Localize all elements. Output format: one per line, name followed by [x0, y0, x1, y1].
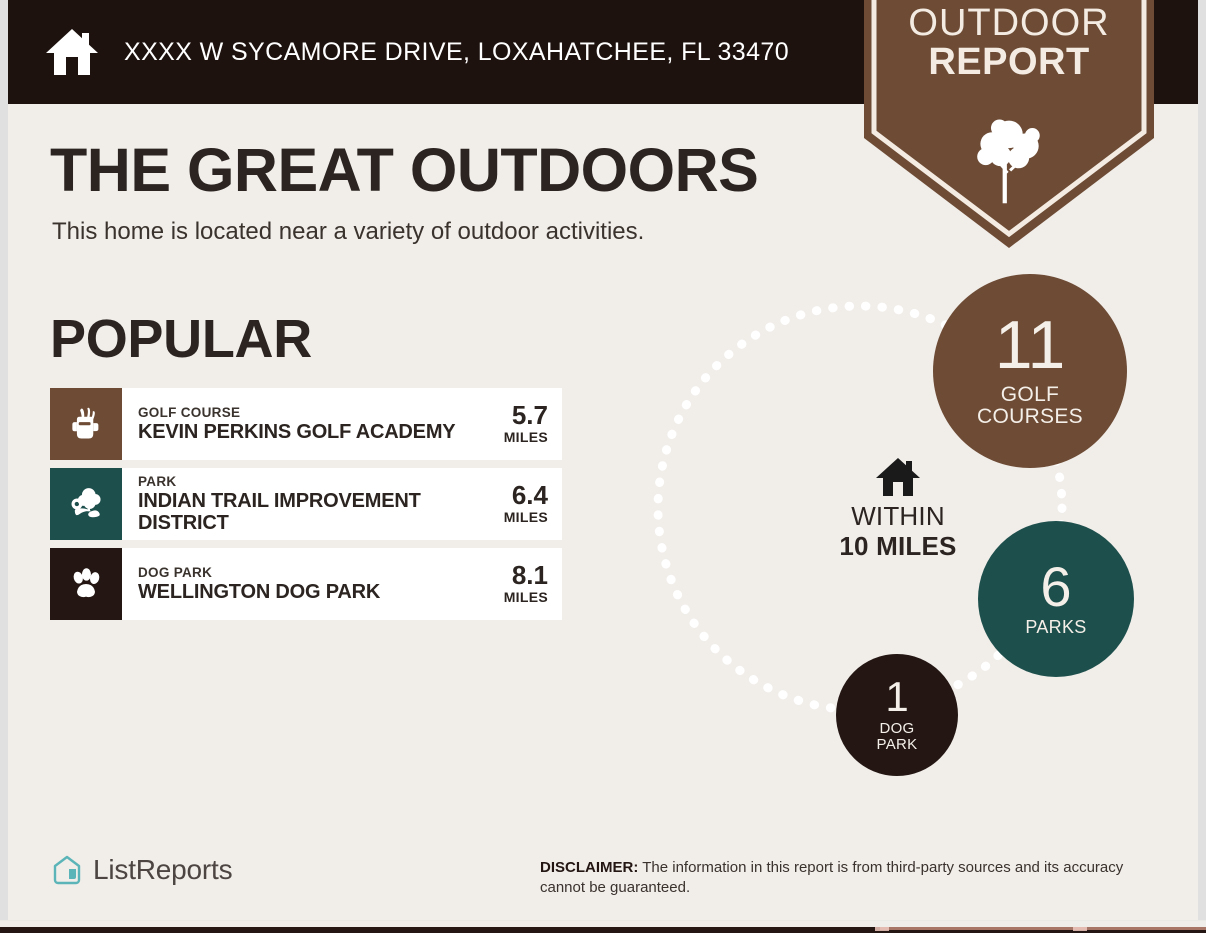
park-tree-icon	[50, 468, 122, 540]
bottom-bar-tint	[880, 927, 1206, 930]
list-item-category: DOG PARK	[138, 565, 494, 582]
bubble-value: 6	[1040, 560, 1071, 613]
list-item-name: KEVIN PERKINS GOLF ACADEMY	[138, 421, 494, 443]
listreports-logo[interactable]: ListReports	[52, 854, 232, 886]
bubble-label-line-1: GOLF	[1001, 383, 1059, 406]
disclaimer: DISCLAIMER: The information in this repo…	[540, 858, 1170, 898]
page-frame-right	[1198, 0, 1206, 920]
distance-value: 8.1	[504, 562, 548, 588]
list-item-category: PARK	[138, 474, 494, 491]
page-frame-left	[0, 0, 8, 920]
page-bottom-bar	[0, 927, 1206, 933]
list-item-name: INDIAN TRAIL IMPROVEMENT DISTRICT	[138, 490, 494, 534]
disclaimer-label: DISCLAIMER:	[540, 859, 638, 876]
popular-list: GOLF COURSE KEVIN PERKINS GOLF ACADEMY 5…	[50, 388, 562, 628]
page-subtitle: This home is located near a variety of o…	[52, 218, 644, 246]
distance-unit: MILES	[504, 588, 548, 606]
home-icon	[875, 456, 921, 498]
page-title: THE GREAT OUTDOORS	[50, 140, 758, 201]
bubble-dog-park[interactable]: 1 DOG PARK	[836, 654, 958, 776]
list-item-name: WELLINGTON DOG PARK	[138, 581, 494, 603]
bubble-value: 1	[885, 677, 908, 717]
listreports-wordmark: ListReports	[93, 854, 232, 886]
diagram-center-label: WITHIN 10 MILES	[828, 456, 968, 562]
list-item-category: GOLF COURSE	[138, 405, 494, 422]
list-item[interactable]: PARK INDIAN TRAIL IMPROVEMENT DISTRICT 6…	[50, 468, 562, 540]
golf-bag-icon	[50, 388, 122, 460]
bottom-bar-marker	[875, 927, 889, 931]
report-canvas: XXXX W SYCAMORE DRIVE, LOXAHATCHEE, FL 3…	[8, 0, 1198, 920]
bubble-value: 11	[995, 313, 1066, 378]
popular-heading: POPULAR	[50, 312, 312, 366]
bubble-label-line-1: DOG	[879, 720, 914, 737]
bubble-label-line-2: PARK	[877, 736, 918, 753]
property-address: XXXX W SYCAMORE DRIVE, LOXAHATCHEE, FL 3…	[124, 38, 789, 67]
list-item-body: PARK INDIAN TRAIL IMPROVEMENT DISTRICT 6…	[122, 468, 562, 540]
bubble-label-line-2: COURSES	[977, 405, 1083, 428]
paw-print-icon	[50, 548, 122, 620]
bubble-parks[interactable]: 6 PARKS	[978, 521, 1134, 677]
bubble-golf-courses[interactable]: 11 GOLF COURSES	[933, 274, 1127, 468]
outdoor-report-page: XXXX W SYCAMORE DRIVE, LOXAHATCHEE, FL 3…	[0, 0, 1206, 933]
center-line-2: 10 MILES	[828, 532, 968, 562]
distance-value: 6.4	[504, 482, 548, 508]
list-item-body: DOG PARK WELLINGTON DOG PARK 8.1 MILES	[122, 548, 562, 620]
bottom-bar-marker	[1073, 927, 1087, 931]
list-item-body: GOLF COURSE KEVIN PERKINS GOLF ACADEMY 5…	[122, 388, 562, 460]
distance-unit: MILES	[504, 428, 548, 446]
distance-unit: MILES	[504, 508, 548, 526]
outdoor-report-badge: OUTDOOR REPORT	[864, 0, 1154, 248]
list-item-distance: 8.1 MILES	[494, 562, 556, 606]
bubble-label-line-1: PARKS	[1025, 617, 1086, 637]
distance-value: 5.7	[504, 402, 548, 428]
center-line-1: WITHIN	[828, 502, 968, 532]
listreports-house-tag-icon	[52, 854, 82, 886]
list-item[interactable]: GOLF COURSE KEVIN PERKINS GOLF ACADEMY 5…	[50, 388, 562, 460]
list-item-distance: 6.4 MILES	[494, 482, 556, 526]
home-icon	[44, 27, 100, 77]
list-item-distance: 5.7 MILES	[494, 402, 556, 446]
within-10-miles-diagram: WITHIN 10 MILES 11 GOLF COURSES 6 PARKS …	[628, 266, 1158, 786]
list-item[interactable]: DOG PARK WELLINGTON DOG PARK 8.1 MILES	[50, 548, 562, 620]
